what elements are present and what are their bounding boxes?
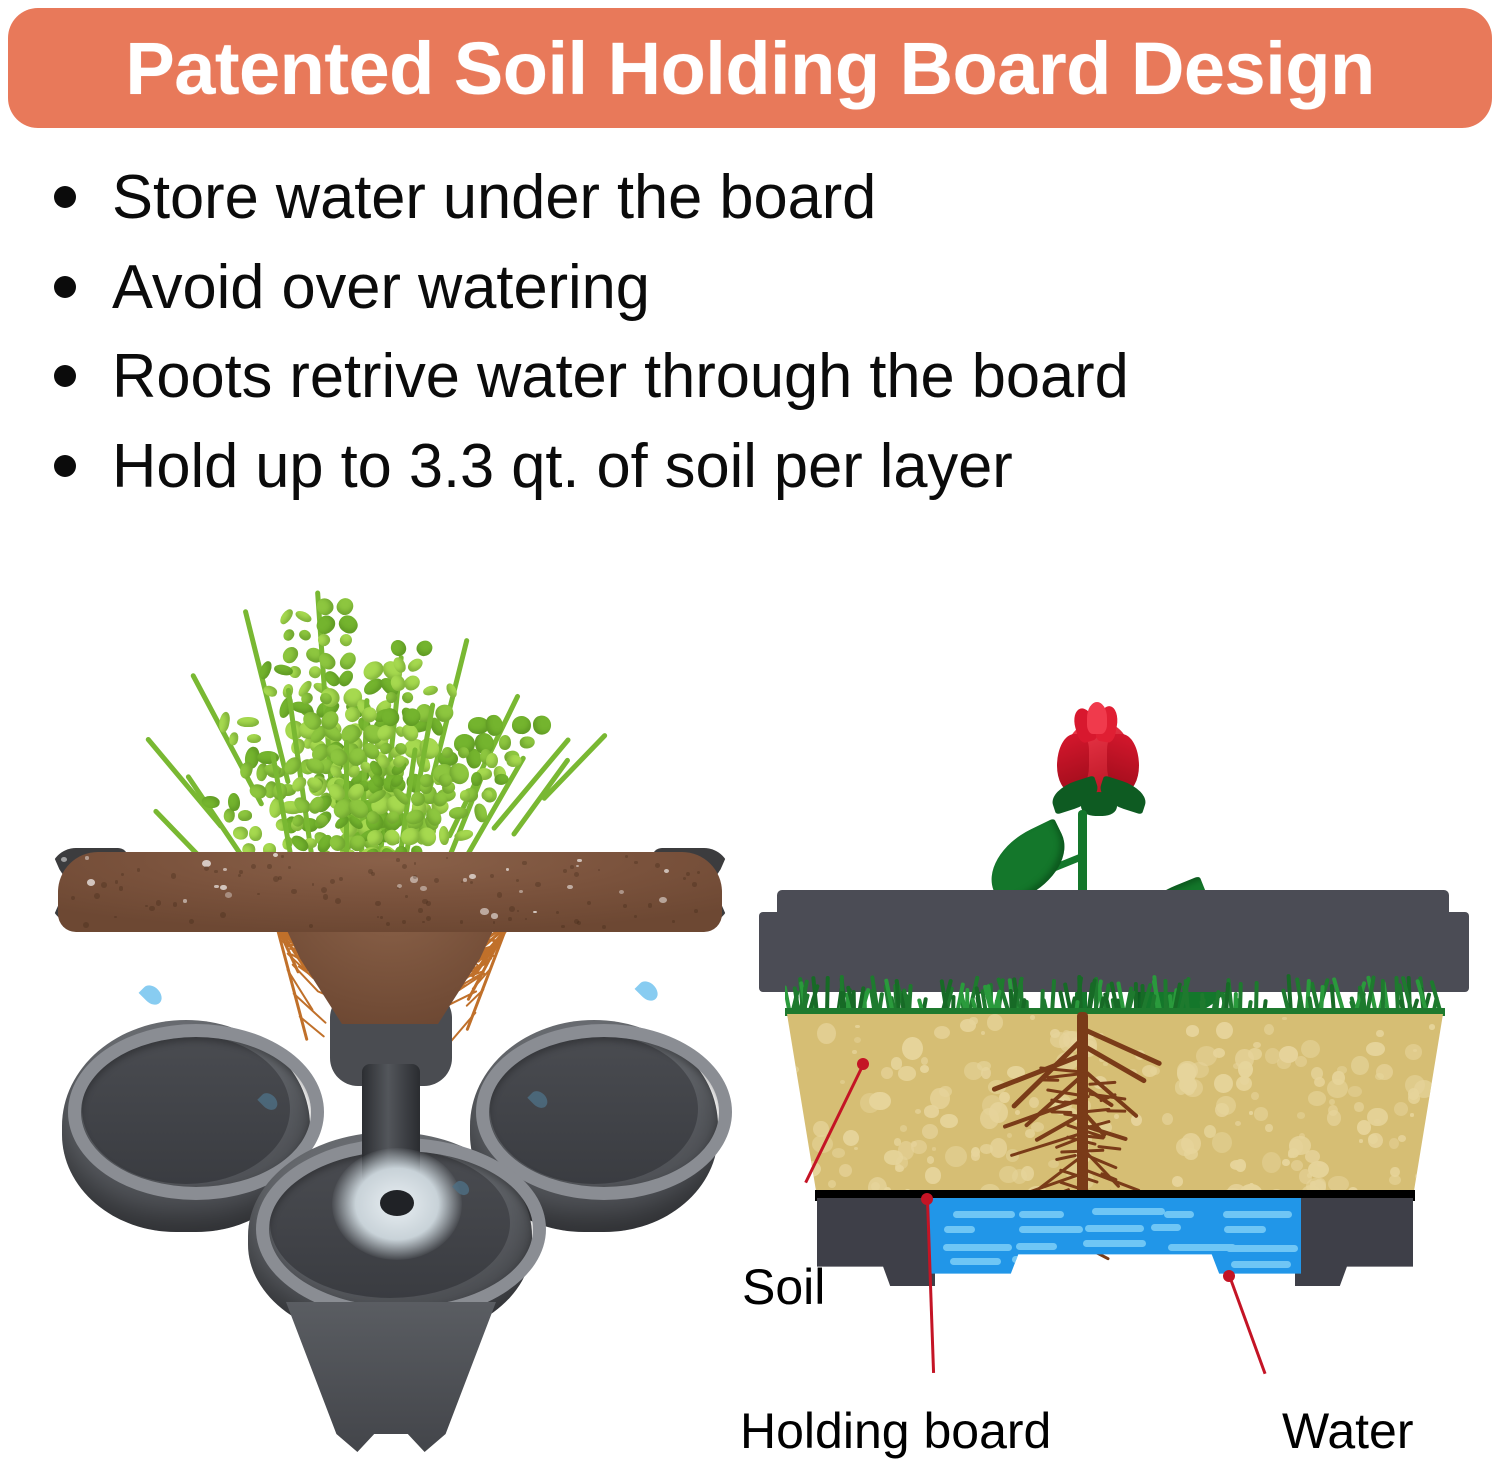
label-soil: Soil: [742, 1258, 825, 1316]
rose-flower-icon: [1035, 700, 1165, 830]
list-item: Hold up to 3.3 qt. of soil per layer: [54, 429, 1454, 505]
stackable-planter: [62, 972, 718, 1452]
base-wall-right: [1295, 1198, 1413, 1286]
soil-mound: [58, 852, 722, 932]
water-reservoir: [929, 1198, 1301, 1286]
feature-list: Store water under the board Avoid over w…: [54, 160, 1454, 519]
header-banner: Patented Soil Holding Board Design: [8, 8, 1492, 128]
cross-section-diagram: [745, 690, 1485, 1330]
bullet-dot-icon: [54, 365, 76, 387]
infographic-page: Patented Soil Holding Board Design Store…: [0, 0, 1500, 1469]
list-item: Avoid over watering: [54, 250, 1454, 326]
page-title: Patented Soil Holding Board Design: [125, 26, 1374, 111]
bullet-dot-icon: [54, 276, 76, 298]
planter-cone-base: [286, 1302, 496, 1452]
bullet-dot-icon: [54, 455, 76, 477]
label-holding-board: Holding board: [740, 1402, 1051, 1460]
soil-layer: [787, 1014, 1443, 1194]
feature-label: Roots retrive water through the board: [112, 339, 1129, 415]
pot-base: [817, 1198, 1413, 1306]
drain-hole: [380, 1190, 414, 1216]
feature-label: Hold up to 3.3 qt. of soil per layer: [112, 429, 1013, 505]
product-photo: [40, 580, 740, 1460]
feature-label: Store water under the board: [112, 160, 876, 236]
bullet-dot-icon: [54, 186, 76, 208]
base-wall-left: [817, 1198, 935, 1286]
list-item: Roots retrive water through the board: [54, 339, 1454, 415]
feature-label: Avoid over watering: [112, 250, 650, 326]
list-item: Store water under the board: [54, 160, 1454, 236]
label-water: Water: [1282, 1402, 1414, 1460]
